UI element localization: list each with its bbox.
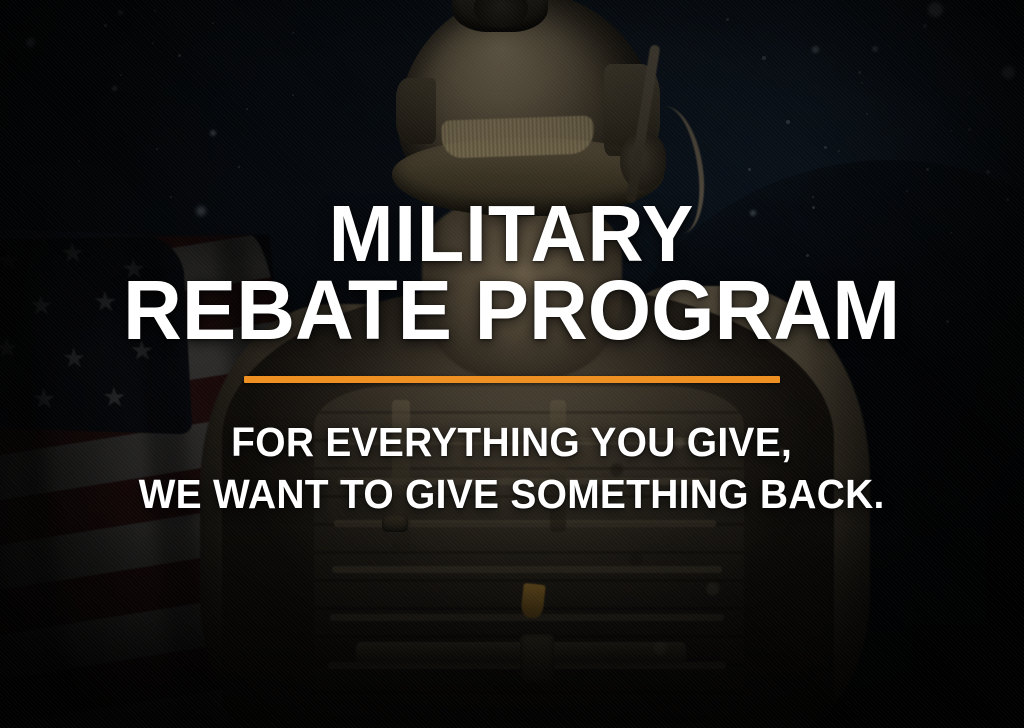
subheadline-line-2: WE WANT TO GIVE SOMETHING BACK. (139, 469, 885, 521)
accent-divider (244, 376, 780, 383)
subheadline-line-1: FOR EVERYTHING YOU GIVE, (139, 417, 885, 469)
subheadline: FOR EVERYTHING YOU GIVE, WE WANT TO GIVE… (139, 417, 885, 520)
headline-line-2: REBATE PROGRAM (123, 271, 900, 350)
headline: MILITARY REBATE PROGRAM (123, 196, 900, 350)
banner-content: MILITARY REBATE PROGRAM FOR EVERYTHING Y… (0, 0, 1024, 728)
military-rebate-banner: ★ ★ ★ ★ ★ ★ ★ ★ ★ ★ (0, 0, 1024, 728)
